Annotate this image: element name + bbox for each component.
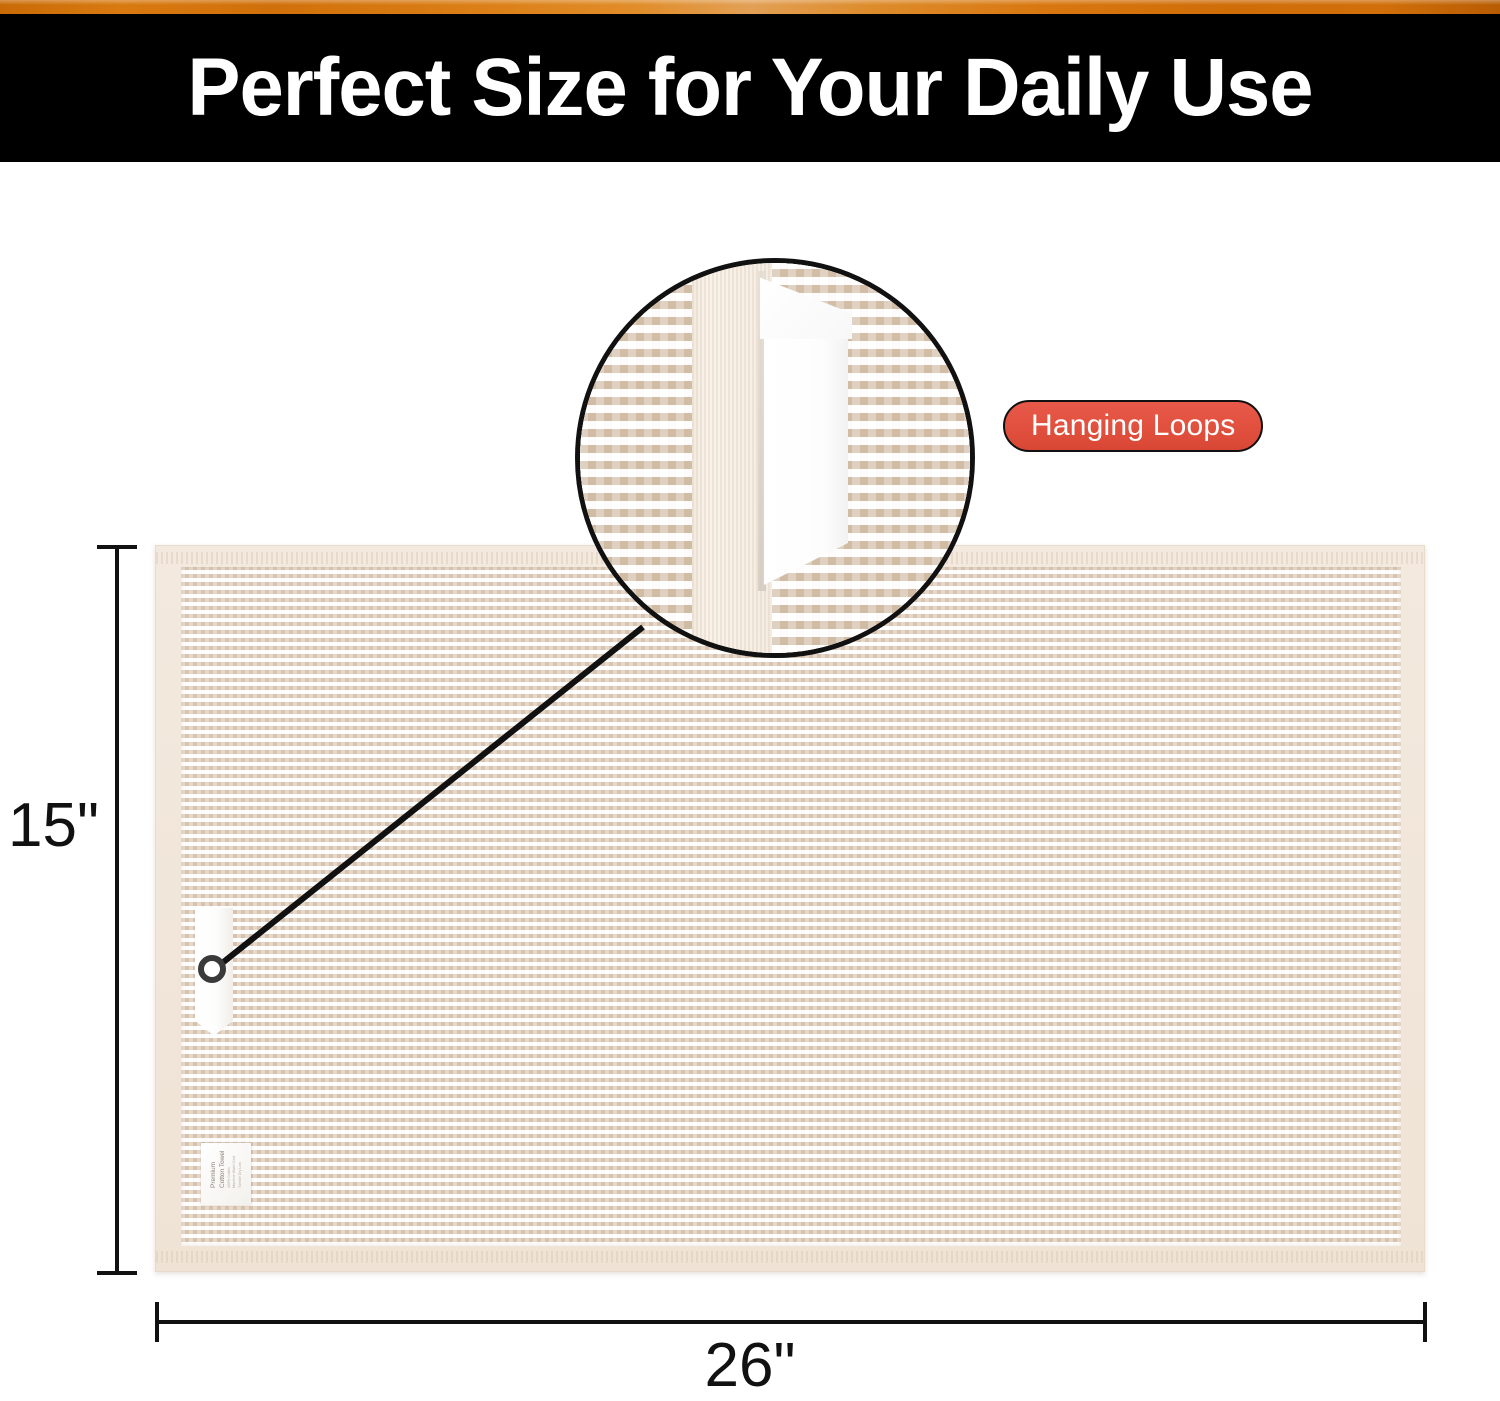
hanging-loop-tab (195, 908, 233, 1036)
height-dimension-cap-top (97, 545, 137, 549)
hanging-loops-badge: Hanging Loops (1003, 400, 1263, 452)
care-label-line-5: Tumble Dry Low (238, 1143, 242, 1188)
care-label-line-4: Machine Wash Cold (232, 1143, 236, 1188)
page-title: Perfect Size for Your Daily Use (170, 47, 1330, 129)
top-accent-bar (0, 0, 1500, 14)
towel-waffle-weave-surface (181, 567, 1401, 1246)
care-label-line-2: Cotton Towel (219, 1143, 226, 1188)
width-dimension-line (155, 1320, 1427, 1324)
magnifier-left-fabric (580, 263, 696, 653)
title-banner: Perfect Size for Your Daily Use (0, 14, 1500, 162)
hanging-loops-badge-label: Hanging Loops (1031, 409, 1235, 443)
height-dimension-label: 15" (8, 790, 99, 861)
care-label: Premium Cotton Towel 100% Cotton Machine… (201, 1143, 251, 1205)
care-label-text-block: Premium Cotton Towel 100% Cotton Machine… (201, 1143, 251, 1193)
width-dimension-label: 26" (0, 1330, 1500, 1401)
magnifier-circle-hanging-loop (575, 258, 975, 658)
care-label-line-1: Premium (210, 1143, 217, 1188)
height-dimension-cap-bottom (97, 1271, 137, 1275)
height-dimension-line (115, 545, 119, 1275)
care-label-line-3: 100% Cotton (227, 1143, 231, 1188)
